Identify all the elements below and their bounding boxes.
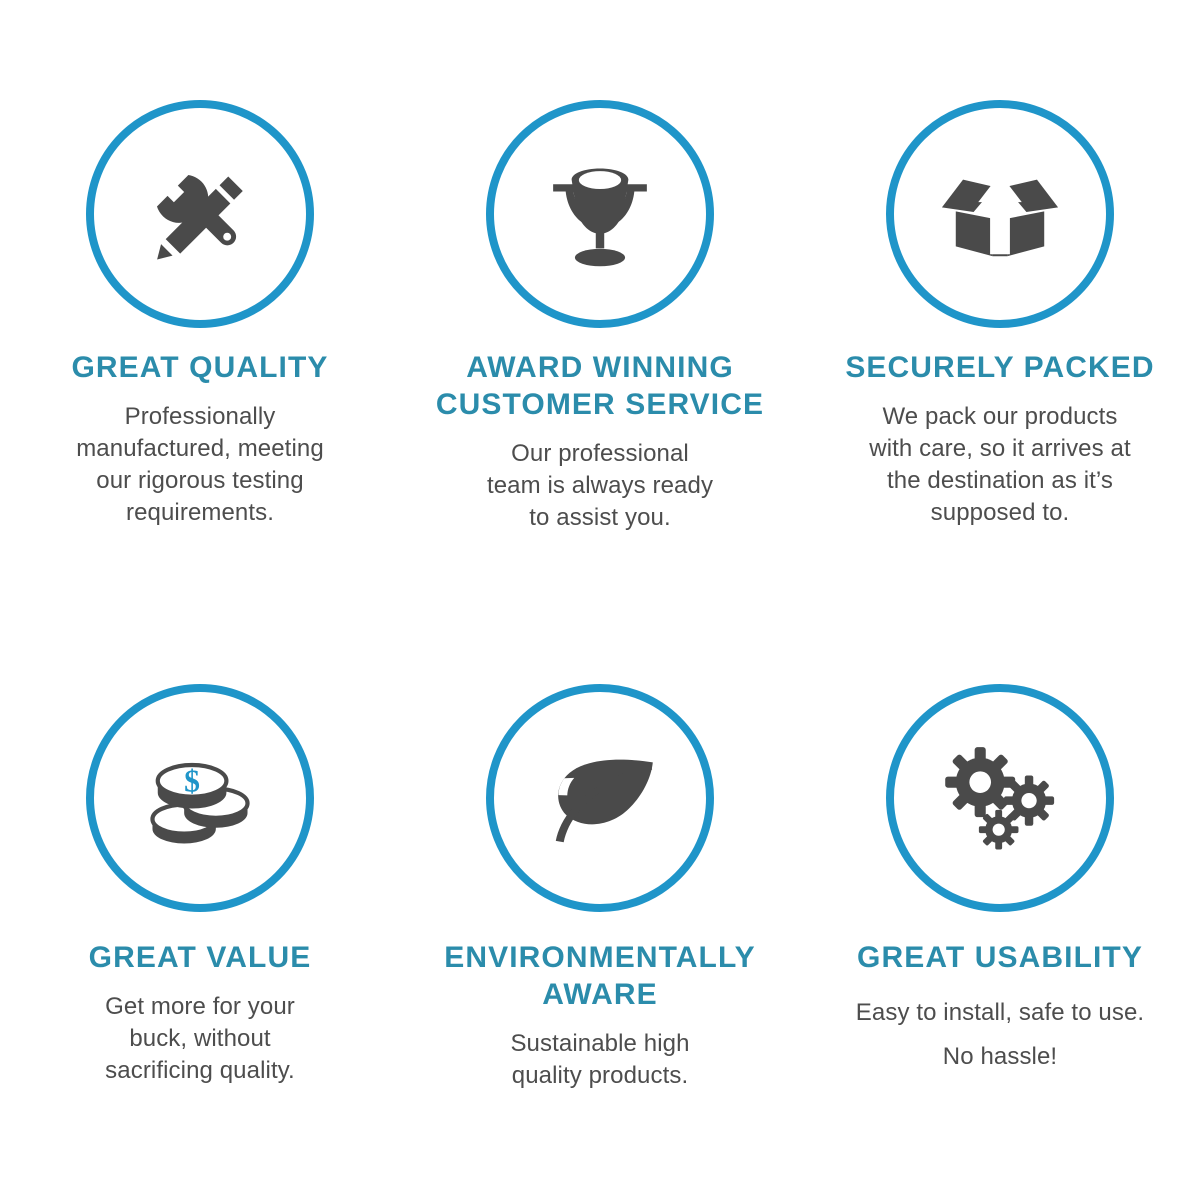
wrench-and-pencil-icon (134, 148, 266, 280)
feature-card-securely-packed: SECURELY PACKED We pack our products wit… (800, 0, 1200, 600)
feature-grid: GREAT QUALITY Professionally manufacture… (0, 0, 1200, 1200)
feature-title: SECURELY PACKED (810, 350, 1190, 387)
feature-highlights-infographic: GREAT QUALITY Professionally manufacture… (0, 0, 1200, 1200)
feature-text-environmentally-aware: ENVIRONMENTALLY AWARE Sustainable high q… (410, 940, 790, 1092)
feature-title: GREAT VALUE (10, 940, 390, 977)
icon-badge-great-usability (886, 684, 1114, 912)
icon-badge-award-winning-customer-service (486, 100, 714, 328)
icon-badge-environmentally-aware (486, 684, 714, 912)
gears-icon (934, 732, 1066, 864)
feature-title: GREAT USABILITY (810, 940, 1190, 977)
icon-badge-securely-packed (886, 100, 1114, 328)
feature-title: ENVIRONMENTALLY AWARE (410, 940, 790, 1014)
coin-stack-dollar-icon: $ (134, 732, 266, 864)
feature-text-great-value: GREAT VALUE Get more for your buck, with… (10, 940, 390, 1087)
feature-card-great-value: $ GREAT VALUE Get more for your buck, wi… (0, 600, 400, 1200)
feature-description: Easy to install, safe to use. No hassle! (810, 991, 1190, 1080)
feature-title: GREAT QUALITY (10, 350, 390, 387)
leaf-icon (534, 732, 666, 864)
feature-description: Get more for your buck, without sacrific… (10, 991, 390, 1087)
open-box-icon (934, 148, 1066, 280)
feature-card-environmentally-aware: ENVIRONMENTALLY AWARE Sustainable high q… (400, 600, 800, 1200)
feature-description: Sustainable high quality products. (410, 1028, 790, 1092)
svg-text:$: $ (184, 763, 200, 798)
feature-card-award-winning-customer-service: AWARD WINNING CUSTOMER SERVICE Our profe… (400, 0, 800, 600)
icon-badge-great-value: $ (86, 684, 314, 912)
icon-badge-great-quality (86, 100, 314, 328)
trophy-icon (534, 148, 666, 280)
feature-title: AWARD WINNING CUSTOMER SERVICE (410, 350, 790, 424)
feature-text-great-usability: GREAT USABILITY Easy to install, safe to… (810, 940, 1190, 1080)
feature-description: Professionally manufactured, meeting our… (10, 401, 390, 529)
feature-text-award-winning-customer-service: AWARD WINNING CUSTOMER SERVICE Our profe… (410, 350, 790, 534)
feature-description: Our professional team is always ready to… (410, 438, 790, 534)
feature-text-securely-packed: SECURELY PACKED We pack our products wit… (810, 350, 1190, 529)
feature-card-great-usability: GREAT USABILITY Easy to install, safe to… (800, 600, 1200, 1200)
feature-card-great-quality: GREAT QUALITY Professionally manufacture… (0, 0, 400, 600)
feature-text-great-quality: GREAT QUALITY Professionally manufacture… (10, 350, 390, 529)
feature-description: We pack our products with care, so it ar… (810, 401, 1190, 529)
